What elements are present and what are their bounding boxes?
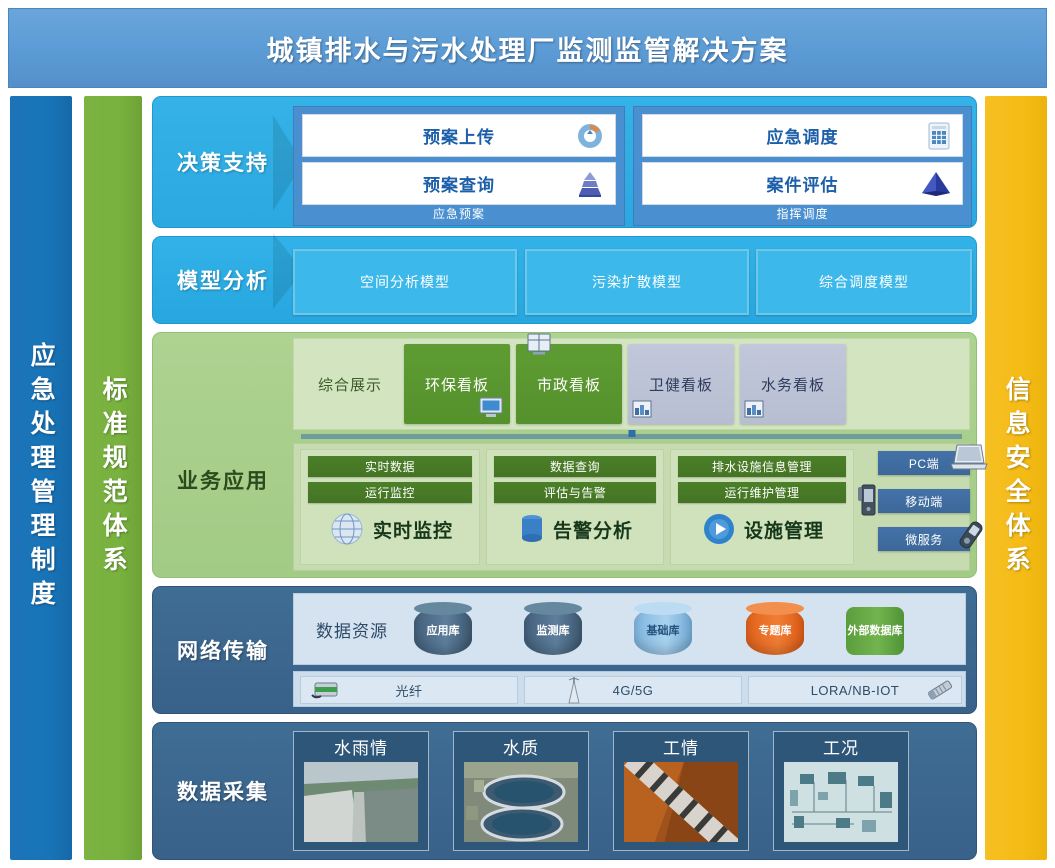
pipeline-trench-photo [624, 762, 738, 842]
model-box-pollution[interactable]: 污染扩散模型 [525, 249, 749, 315]
sensor-device-icon [923, 677, 957, 703]
database-thematic[interactable]: 专题库 [746, 602, 804, 658]
standards-pillar-label: 标准规范体系 [100, 376, 126, 580]
alarm-analysis-entry[interactable]: 告警分析 [487, 500, 663, 558]
database-external-label: 外部数据库 [848, 625, 903, 638]
realtime-monitoring-label: 实时监控 [373, 516, 453, 543]
dashboard-card-municipal-label: 市政看板 [537, 374, 601, 395]
dashboard-card-environment-label: 环保看板 [425, 374, 489, 395]
acquisition-card-engineering-title: 工情 [614, 732, 748, 760]
dashboard-card-health[interactable]: 卫健看板 [628, 344, 734, 424]
plan-query-item[interactable]: 预案查询 [302, 162, 616, 205]
emergency-plan-group: 预案上传 预案查询 [293, 106, 625, 226]
transmission-media-panel: 光纤 4G/5G LORA/NB-IOT [293, 671, 966, 707]
emergency-dispatch-item[interactable]: 应急调度 [642, 114, 963, 157]
case-evaluation-label: 案件评估 [767, 171, 839, 196]
client-device-list: PC端 移动端 [878, 451, 970, 565]
data-query-button[interactable]: 数据查询 [494, 456, 656, 477]
microservice-label: 微服务 [905, 531, 943, 548]
microservice-button[interactable]: 微服务 [878, 527, 970, 551]
business-application-label: 业务应用 [153, 383, 293, 577]
case-evaluation-item[interactable]: 案件评估 [642, 162, 963, 205]
model-box-spatial[interactable]: 空间分析模型 [293, 249, 517, 315]
cable-icon [309, 678, 343, 702]
command-dispatch-group-title: 指挥调度 [634, 205, 971, 222]
facility-management-label: 设施管理 [744, 516, 824, 543]
architecture-stack: 决策支持 预案上传 [152, 96, 977, 860]
realtime-data-button[interactable]: 实时数据 [308, 456, 472, 477]
data-acquisition-layer: 数据采集 水雨情 水质 [152, 722, 977, 860]
facility-management-entry[interactable]: 设施管理 [671, 500, 853, 558]
plan-query-label: 预案查询 [423, 171, 495, 196]
mobile-client-label: 移动端 [905, 493, 943, 510]
emergency-management-pillar: 应急处理管理制度 [10, 96, 72, 860]
acquisition-card-process[interactable]: 工况 [773, 731, 909, 851]
command-dispatch-group: 应急调度 [633, 106, 972, 226]
database-external[interactable]: 外部数据库 [846, 602, 904, 658]
canal-channel-photo [304, 762, 418, 842]
feature-phone-icon [954, 519, 988, 551]
data-acquisition-label: 数据采集 [153, 723, 293, 859]
pyramid-3d-icon [920, 170, 952, 198]
plan-upload-item[interactable]: 预案上传 [302, 114, 616, 157]
chart-small-icon [632, 400, 652, 418]
database-icon [517, 511, 547, 547]
pc-client-button[interactable]: PC端 [878, 451, 970, 475]
realtime-monitoring-entry[interactable]: 实时监控 [301, 500, 479, 558]
database-basic-label: 基础库 [647, 625, 680, 638]
decision-support-label: 决策支持 [153, 97, 293, 227]
acquisition-card-quality[interactable]: 水质 [453, 731, 589, 851]
window-chart-icon [526, 332, 552, 356]
standards-pillar: 标准规范体系 [84, 96, 142, 860]
play-circle-icon [700, 510, 738, 548]
acquisition-card-engineering[interactable]: 工情 [613, 731, 749, 851]
information-security-pillar: 信息安全体系 [985, 96, 1047, 860]
laptop-icon [948, 441, 988, 473]
dashboard-card-municipal[interactable]: 市政看板 [516, 344, 622, 424]
lora-nbiot-link-label: LORA/NB-IOT [811, 683, 900, 698]
lora-nbiot-link[interactable]: LORA/NB-IOT [748, 676, 962, 704]
business-column-monitoring: 实时数据 运行监控 实时监控 [300, 449, 480, 565]
dashboard-card-environment[interactable]: 环保看板 [404, 344, 510, 424]
dashboard-divider [301, 434, 962, 439]
emergency-plan-group-title: 应急预案 [294, 205, 624, 222]
decision-support-layer: 决策支持 预案上传 [152, 96, 977, 228]
dashboard-card-water-label: 水务看板 [761, 374, 825, 395]
emergency-dispatch-label: 应急调度 [767, 123, 839, 148]
acquisition-card-rainfall-title: 水雨情 [294, 732, 428, 760]
pyramid-chart-icon [575, 170, 605, 198]
plan-upload-label: 预案上传 [423, 123, 495, 148]
acquisition-card-rainfall[interactable]: 水雨情 [293, 731, 429, 851]
refresh-cycle-icon [575, 121, 605, 151]
comprehensive-display-panel: 综合展示 环保看板 市政看板 [293, 338, 970, 430]
page-header: 城镇排水与污水处理厂监测监管解决方案 [8, 8, 1047, 88]
cellular-link-label: 4G/5G [613, 683, 654, 698]
mobile-client-button[interactable]: 移动端 [878, 489, 970, 513]
database-thematic-label: 专题库 [759, 625, 792, 638]
grid-table-icon [926, 121, 952, 151]
comprehensive-display-label: 综合展示 [302, 339, 398, 429]
data-resource-label: 数据资源 [300, 594, 404, 664]
network-transmission-layer: 网络传输 数据资源 应用库 监测库 基础库 专题库 [152, 586, 977, 714]
business-column-alarm: 数据查询 评估与告警 告警分析 [486, 449, 664, 565]
page-title: 城镇排水与污水处理厂监测监管解决方案 [9, 9, 1046, 87]
database-monitoring-label: 监测库 [537, 625, 570, 638]
cellular-link[interactable]: 4G/5G [524, 676, 742, 704]
database-application-label: 应用库 [427, 625, 460, 638]
information-security-pillar-label: 信息安全体系 [1003, 376, 1029, 580]
model-analysis-layer: 模型分析 空间分析模型 污染扩散模型 综合调度模型 [152, 236, 977, 324]
solution-architecture-diagram: 城镇排水与污水处理厂监测监管解决方案 应急处理管理制度 标准规范体系 信息安全体… [0, 0, 1055, 868]
data-resource-panel: 数据资源 应用库 监测库 基础库 专题库 外部数据 [293, 593, 966, 665]
network-transmission-label: 网络传输 [153, 587, 293, 713]
pc-client-label: PC端 [909, 455, 939, 472]
clarifier-tanks-photo [464, 762, 578, 842]
globe-icon [327, 509, 367, 549]
process-diagram-photo [784, 762, 898, 842]
monitor-icon [478, 396, 504, 420]
acquisition-card-quality-title: 水质 [454, 732, 588, 760]
chart-small-icon [744, 400, 764, 418]
model-analysis-label: 模型分析 [153, 237, 293, 323]
dashboard-card-water[interactable]: 水务看板 [740, 344, 846, 424]
alarm-analysis-label: 告警分析 [553, 516, 633, 543]
business-application-layer: 业务应用 综合展示 环保看板 市政看板 [152, 332, 977, 578]
emergency-management-pillar-label: 应急处理管理制度 [28, 342, 54, 614]
fiber-link-label: 光纤 [395, 681, 422, 700]
drainage-facility-info-button[interactable]: 排水设施信息管理 [678, 456, 846, 477]
fiber-link[interactable]: 光纤 [300, 676, 518, 704]
mobile-phone-icon [856, 483, 880, 517]
business-column-facility: 排水设施信息管理 运行维护管理 设施管理 [670, 449, 854, 565]
acquisition-card-process-title: 工况 [774, 732, 908, 760]
dashboard-card-health-label: 卫健看板 [649, 374, 713, 395]
model-box-dispatch[interactable]: 综合调度模型 [756, 249, 972, 315]
database-monitoring[interactable]: 监测库 [524, 602, 582, 658]
database-basic[interactable]: 基础库 [634, 602, 692, 658]
database-application[interactable]: 应用库 [414, 602, 472, 658]
antenna-tower-icon [563, 675, 585, 705]
